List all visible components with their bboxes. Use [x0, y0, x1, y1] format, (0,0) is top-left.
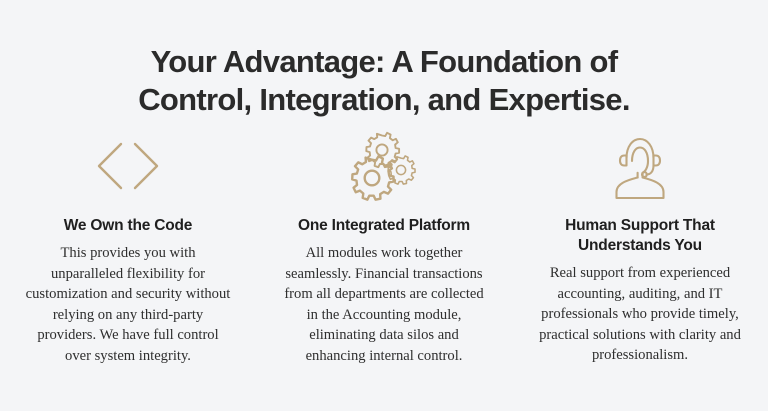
- page-title-line-1: Your Advantage: A Foundation of: [0, 43, 768, 81]
- code-brackets-icon: [91, 130, 165, 202]
- feature-title: One Integrated Platform: [298, 216, 470, 236]
- feature-column-human-support: Human Support That Understands You Real …: [512, 130, 768, 366]
- feature-title: Human Support That Understands You: [525, 216, 755, 256]
- gears-icon: [344, 130, 424, 202]
- feature-column-we-own-the-code: We Own the Code This provides you with u…: [0, 130, 256, 366]
- page-title: Your Advantage: A Foundation of Control,…: [0, 43, 768, 119]
- feature-body: Real support from experienced accounting…: [524, 263, 756, 366]
- feature-column-one-integrated-platform: One Integrated Platform All modules work…: [256, 130, 512, 366]
- feature-section: Your Advantage: A Foundation of Control,…: [0, 0, 768, 411]
- page-title-line-2: Control, Integration, and Expertise.: [0, 81, 768, 119]
- headset-support-icon: [603, 130, 677, 202]
- feature-title: We Own the Code: [64, 216, 192, 236]
- feature-columns: We Own the Code This provides you with u…: [0, 130, 768, 366]
- feature-body: All modules work together seamlessly. Fi…: [282, 243, 487, 366]
- feature-body: This provides you with unparalleled flex…: [26, 243, 231, 366]
